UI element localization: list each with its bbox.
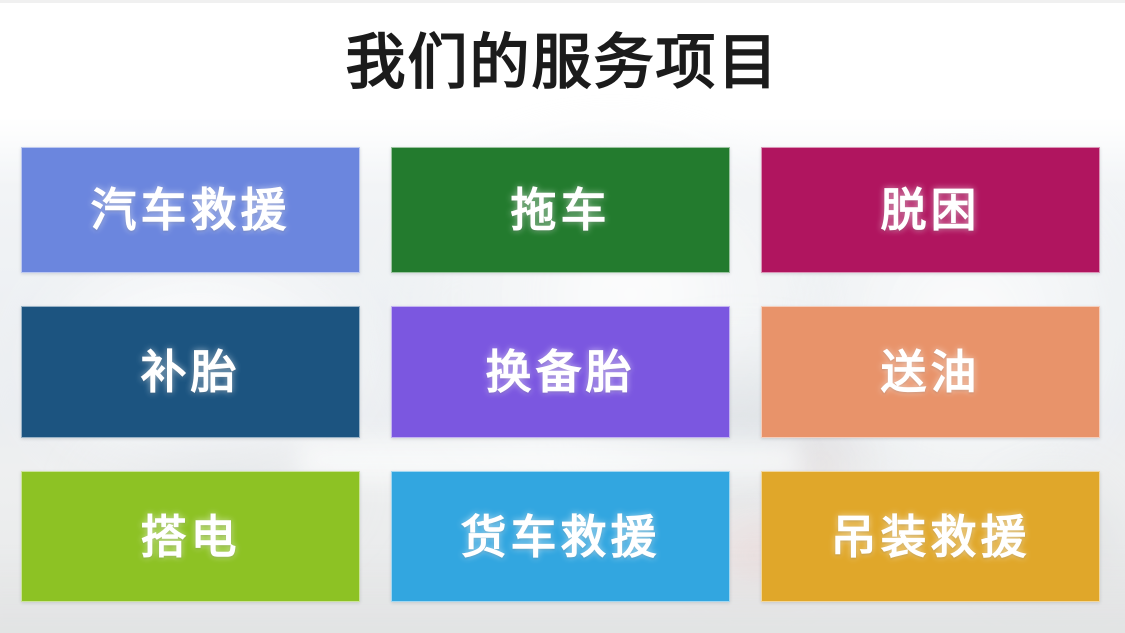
service-tile-spare-tire-change[interactable]: 换备胎 [391,306,730,438]
service-grid: 汽车救援 拖车 脱困 补胎 换备胎 送油 搭电 货车救援 吊装救援 [21,147,1088,601]
service-poster: 我们的服务项目 汽车救援 拖车 脱困 补胎 换备胎 送油 搭电 货车救援 吊装救… [0,0,1125,633]
service-tile-label: 吊装救援 [831,514,1031,560]
service-tile-extrication[interactable]: 脱困 [761,147,1100,273]
title-band: 我们的服务项目 [0,0,1125,126]
service-tile-tire-repair[interactable]: 补胎 [21,306,360,438]
service-tile-fuel-delivery[interactable]: 送油 [761,306,1100,438]
service-tile-label: 搭电 [141,514,241,560]
service-tile-label: 换备胎 [486,349,636,395]
service-tile-label: 拖车 [511,187,611,233]
page-title: 我们的服务项目 [346,33,780,93]
service-tile-truck-rescue[interactable]: 货车救援 [391,471,730,602]
service-tile-label: 补胎 [141,349,241,395]
service-tile-towing[interactable]: 拖车 [391,147,730,273]
service-tile-crane-lift-rescue[interactable]: 吊装救援 [761,471,1100,602]
service-tile-jump-start[interactable]: 搭电 [21,471,360,602]
service-tile-label: 货车救援 [461,514,661,560]
service-tile-label: 送油 [881,349,981,395]
service-tile-label: 脱困 [881,187,981,233]
service-tile-car-rescue[interactable]: 汽车救援 [21,147,360,273]
service-tile-label: 汽车救援 [91,187,291,233]
